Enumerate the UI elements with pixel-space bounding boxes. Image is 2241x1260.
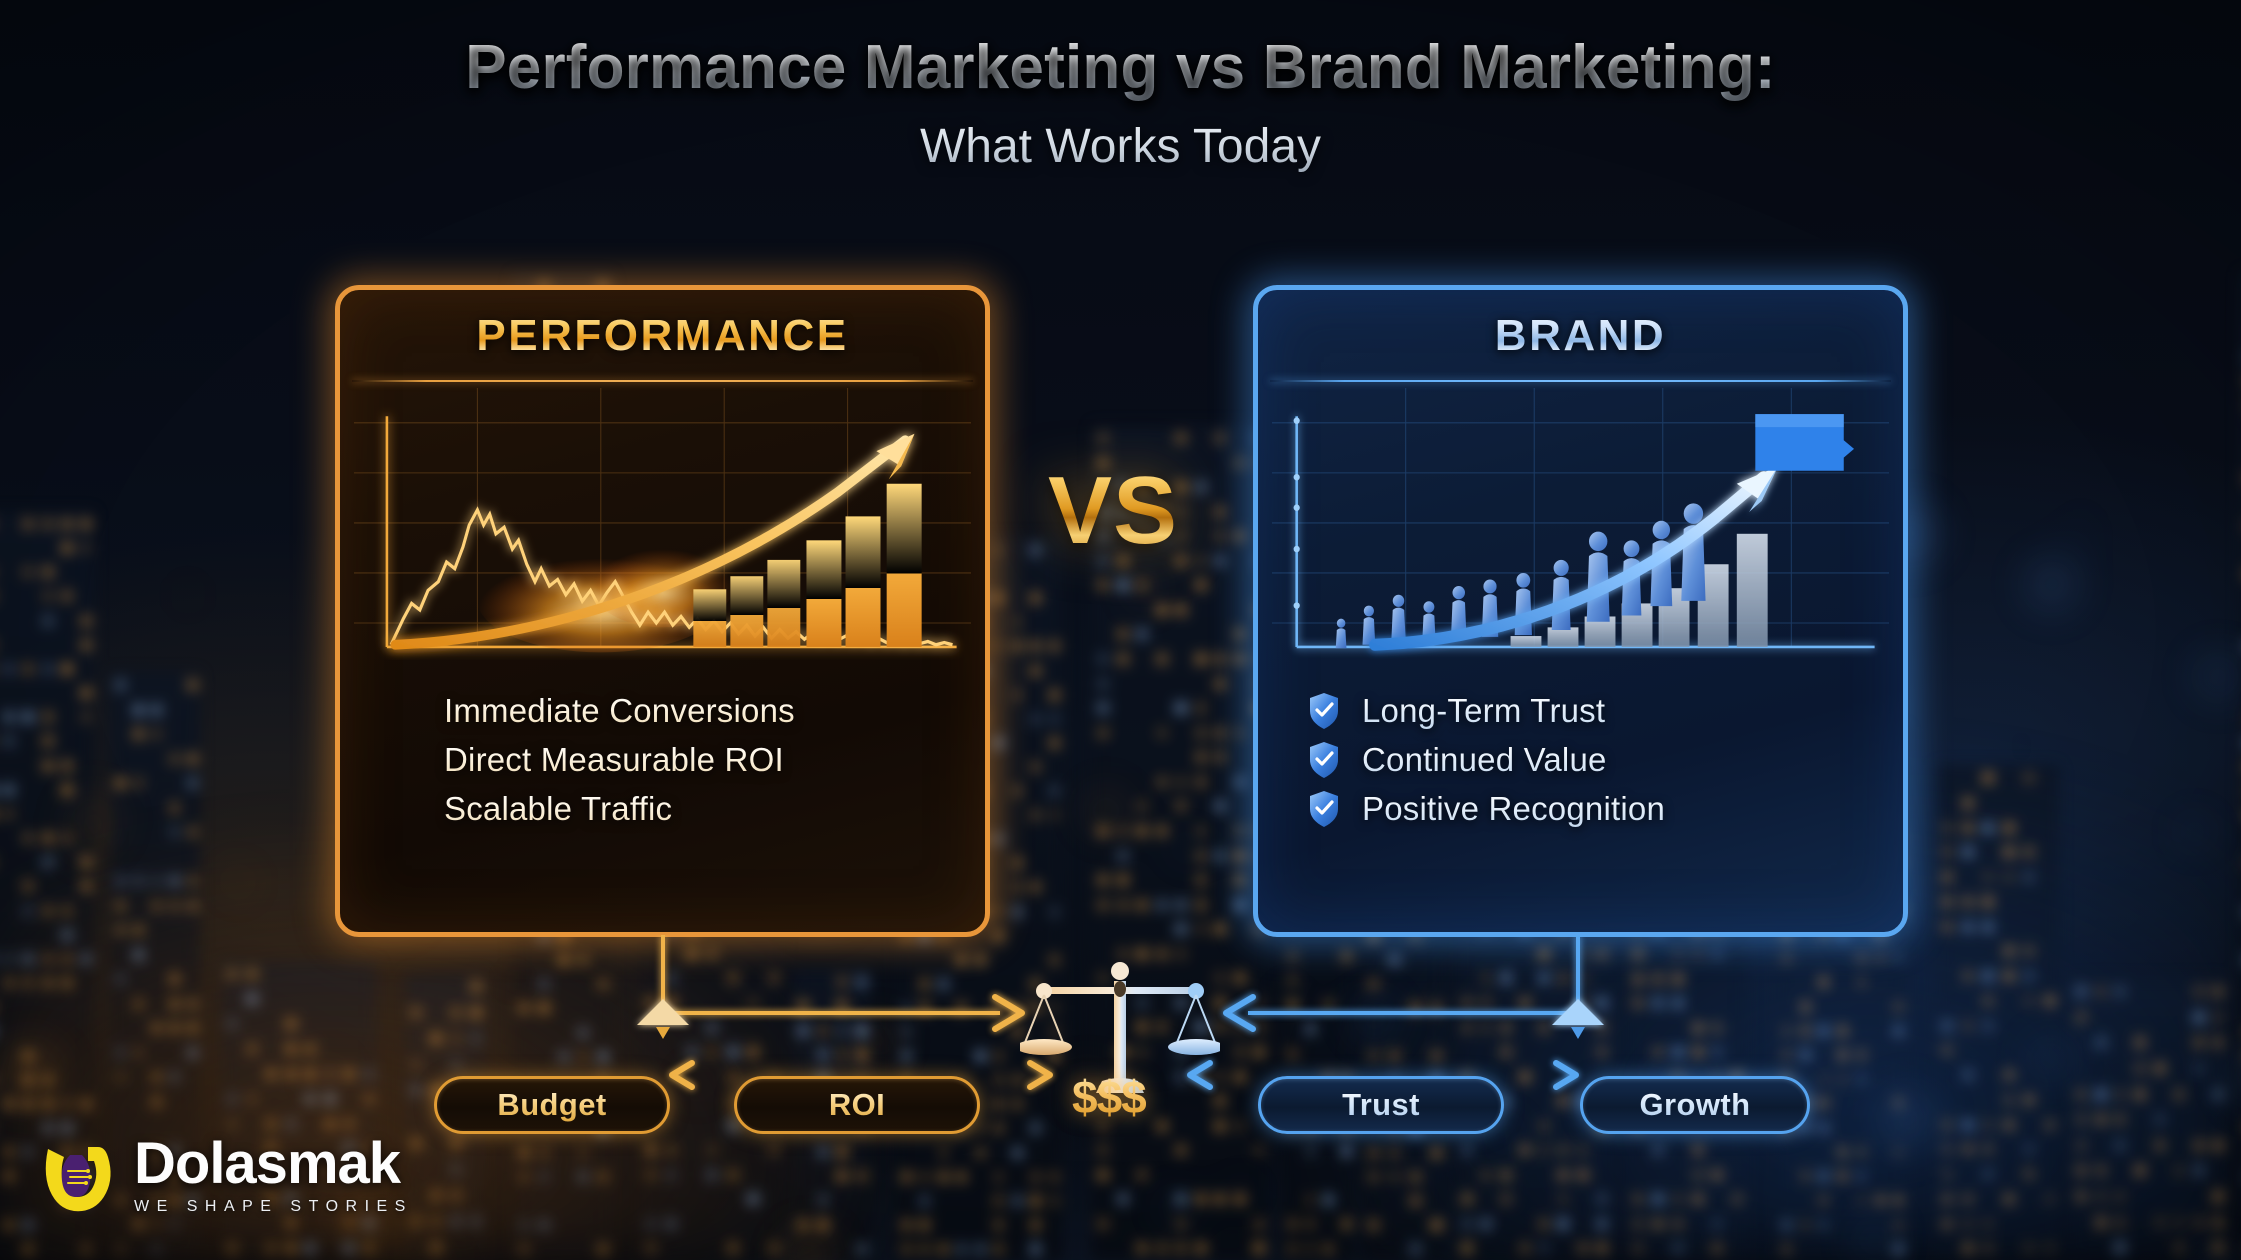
- pill-trust[interactable]: Trust: [1258, 1076, 1504, 1134]
- list-item[interactable]: Positive Recognition: [1306, 784, 1903, 833]
- pill-growth[interactable]: Growth: [1580, 1076, 1810, 1134]
- bullet-label: Direct Measurable ROI: [444, 741, 784, 779]
- bullet-label: Scalable Traffic: [444, 790, 672, 828]
- page-title: Performance Marketing vs Brand Marketing…: [0, 32, 2241, 103]
- brand-header-divider: [1270, 380, 1891, 382]
- brand-bullets: Long-Term Trust Continued Value Positive…: [1306, 686, 1903, 833]
- money-value: $$$: [1072, 1070, 1146, 1124]
- bullet-label: Continued Value: [1362, 741, 1607, 779]
- pill-budget[interactable]: Budget: [434, 1076, 670, 1134]
- pill-budget-label: Budget: [497, 1087, 606, 1123]
- shield-check-icon: [1306, 691, 1342, 731]
- brand-milestone-flag: [1755, 414, 1854, 471]
- performance-connectors: [663, 935, 1000, 1013]
- list-item[interactable]: Direct Measurable ROI: [388, 735, 985, 784]
- orange-dot-icon: [388, 691, 424, 731]
- brand-connectors: [1248, 935, 1578, 1013]
- performance-header-divider: [352, 380, 973, 382]
- orange-dot-icon: [388, 740, 424, 780]
- brand-chart: [1272, 388, 1889, 660]
- list-item[interactable]: Continued Value: [1306, 735, 1903, 784]
- logo-name: Dolasmak: [134, 1135, 413, 1193]
- list-item[interactable]: Long-Term Trust: [1306, 686, 1903, 735]
- pill-growth-label: Growth: [1640, 1087, 1751, 1123]
- dolasmak-logo-mark: [40, 1137, 118, 1215]
- shield-check-icon: [1306, 789, 1342, 829]
- performance-chart-svg: [354, 388, 971, 660]
- performance-panel[interactable]: PERFORMANCE: [335, 285, 990, 937]
- list-item[interactable]: Scalable Traffic: [388, 784, 985, 833]
- brand-logo[interactable]: Dolasmak WE SHAPE STORIES: [40, 1135, 413, 1216]
- performance-chart: [354, 388, 971, 660]
- brand-panel[interactable]: BRAND: [1253, 285, 1908, 937]
- performance-bullets: Immediate Conversions Direct Measurable …: [388, 686, 985, 833]
- performance-connector-tip: [656, 1027, 670, 1039]
- vs-badge: VS: [1048, 456, 1178, 566]
- performance-panel-title: PERFORMANCE: [476, 311, 848, 361]
- pill-roi-label: ROI: [829, 1087, 885, 1123]
- pill-roi[interactable]: ROI: [734, 1076, 980, 1134]
- performance-panel-header: PERFORMANCE: [340, 290, 985, 382]
- logo-tagline: WE SHAPE STORIES: [134, 1198, 413, 1216]
- list-item[interactable]: Immediate Conversions: [388, 686, 985, 735]
- brand-panel-header: BRAND: [1258, 290, 1903, 382]
- pill-trust-label: Trust: [1342, 1087, 1420, 1123]
- brand-connector-tip: [1571, 1027, 1585, 1039]
- shield-check-icon: [1306, 740, 1342, 780]
- logo-text-block: Dolasmak WE SHAPE STORIES: [134, 1135, 413, 1216]
- bullet-label: Long-Term Trust: [1362, 692, 1605, 730]
- header: Performance Marketing vs Brand Marketing…: [0, 32, 2241, 174]
- bullet-label: Positive Recognition: [1362, 790, 1665, 828]
- brand-chart-svg: [1272, 388, 1889, 660]
- brand-panel-title: BRAND: [1495, 311, 1666, 361]
- bullet-label: Immediate Conversions: [444, 692, 795, 730]
- page-subtitle: What Works Today: [0, 119, 2241, 174]
- orange-dot-icon: [388, 789, 424, 829]
